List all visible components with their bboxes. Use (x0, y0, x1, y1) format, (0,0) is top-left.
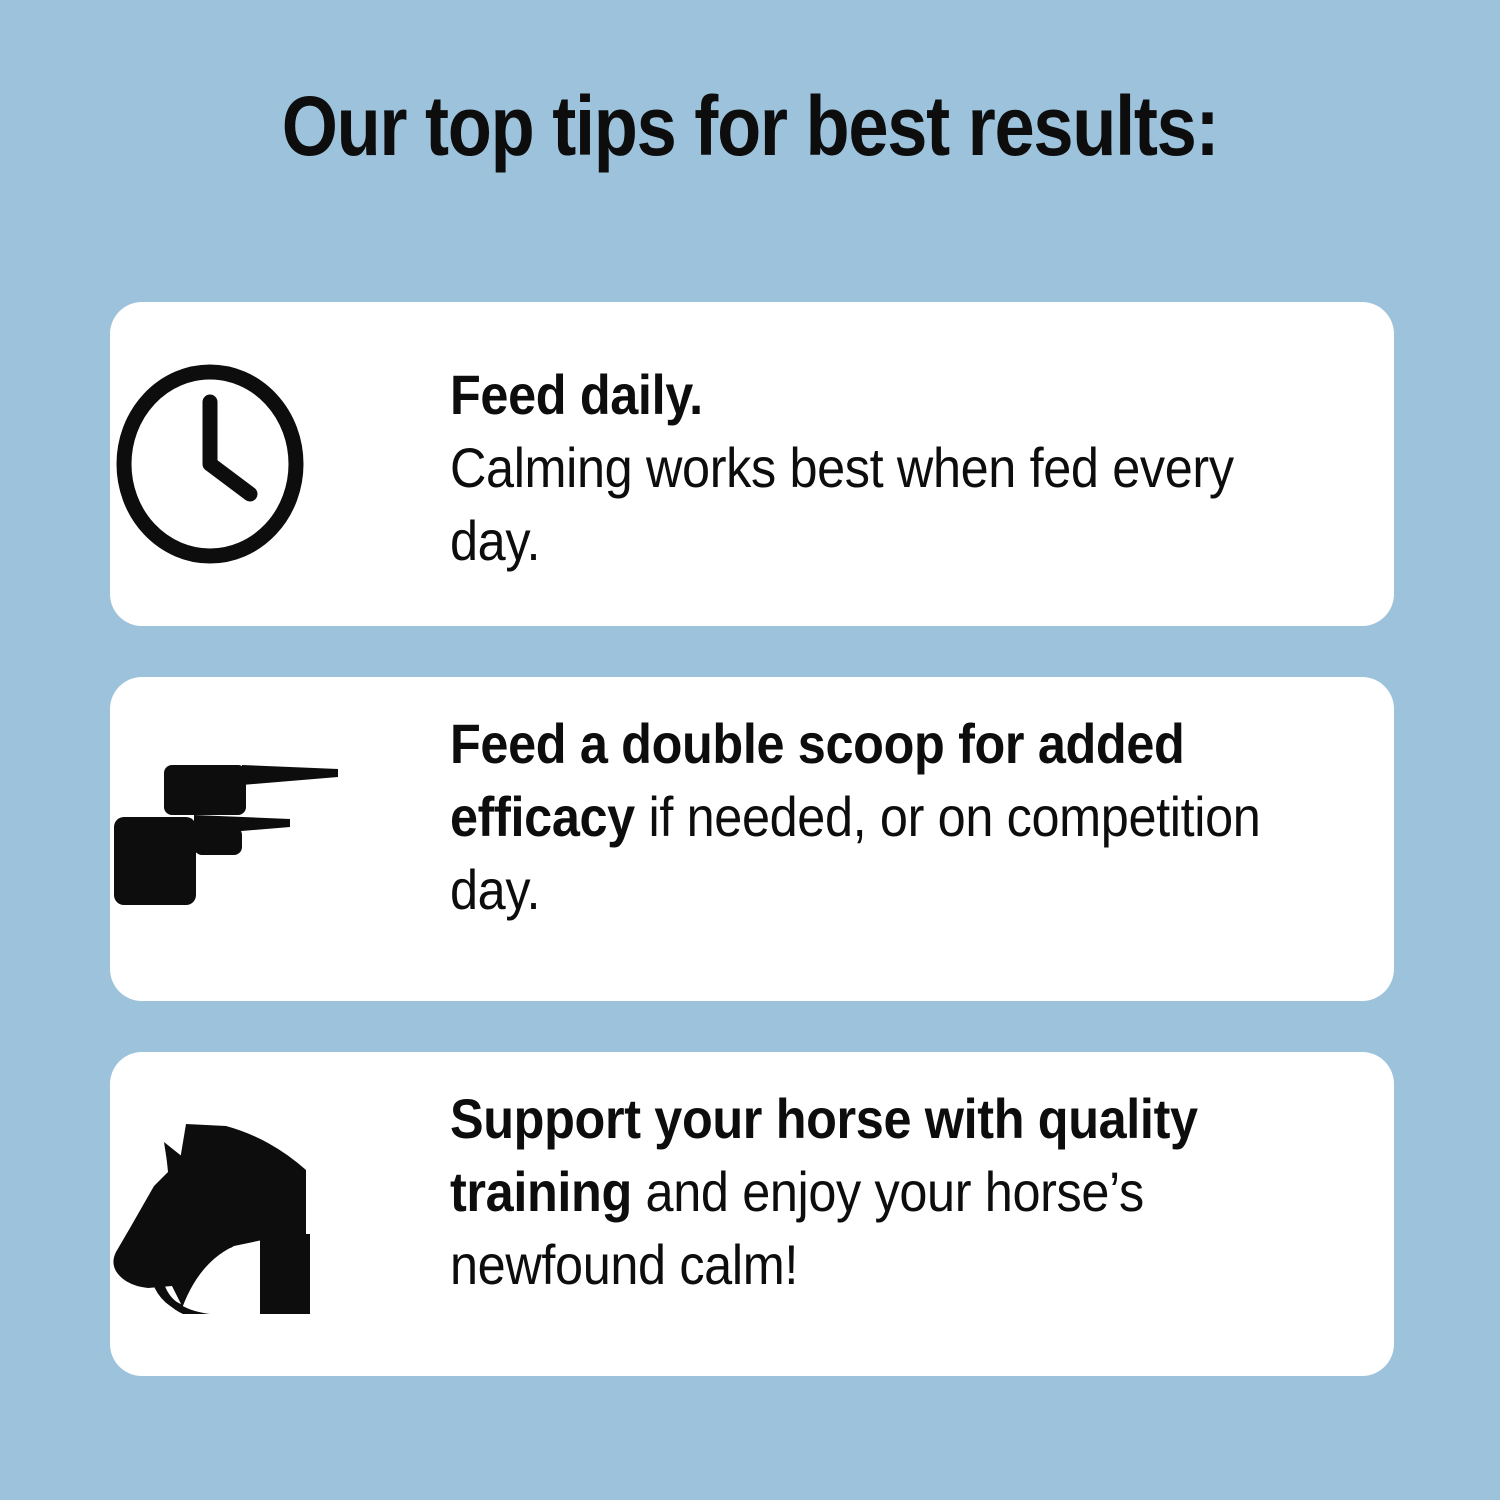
tips-infographic: Our top tips for best results: Feed dail… (0, 0, 1500, 1500)
tip-card-feed-daily: Feed daily.Calming works best when fed e… (110, 302, 1394, 626)
page-title: Our top tips for best results: (105, 78, 1395, 174)
double-scoop-icon (110, 765, 350, 925)
tip-card-text: Feed daily.Calming works best when fed e… (450, 302, 1300, 577)
tip-card-icon-slot (110, 677, 450, 1001)
horse-head-icon (110, 1114, 310, 1314)
tip-lead: Feed daily. (450, 363, 703, 426)
clock-icon (110, 360, 310, 568)
tip-card-double-scoop: Feed a double scoop for added efficacy i… (110, 677, 1394, 1001)
tip-card-quality-training: Support your horse with quality training… (110, 1052, 1394, 1376)
tip-card-text: Feed a double scoop for added efficacy i… (450, 677, 1300, 926)
tip-body: Calming works best when fed every day. (450, 436, 1234, 572)
tip-card-text: Support your horse with quality training… (450, 1052, 1300, 1301)
tip-card-icon-slot (110, 302, 450, 626)
tip-card-icon-slot (110, 1052, 450, 1376)
